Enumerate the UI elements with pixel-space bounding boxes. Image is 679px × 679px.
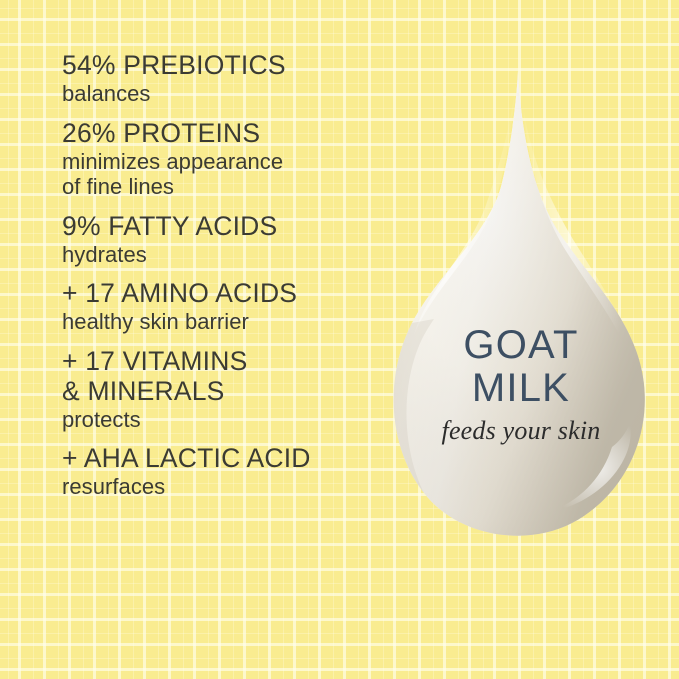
ingredient-name: 26% PROTEINS (62, 118, 372, 148)
goat-milk-infographic: 54% PREBIOTICS balances 26% PROTEINS min… (0, 0, 679, 679)
list-item: + 17 AMINO ACIDS healthy skin barrier (62, 278, 372, 335)
ingredient-benefit: protects (62, 407, 372, 433)
ingredient-benefit: balances (62, 81, 372, 107)
ingredient-benefit: minimizes appearance of fine lines (62, 149, 372, 200)
list-item: 9% FATTY ACIDS hydrates (62, 211, 372, 268)
ingredient-list: 54% PREBIOTICS balances 26% PROTEINS min… (62, 50, 372, 511)
ingredient-benefit: hydrates (62, 242, 372, 268)
ingredient-name: + AHA LACTIC ACID (62, 443, 372, 473)
list-item: 26% PROTEINS minimizes appearance of fin… (62, 118, 372, 200)
milk-droplet-icon (366, 55, 666, 555)
list-item: 54% PREBIOTICS balances (62, 50, 372, 107)
list-item: + 17 VITAMINS & MINERALS protects (62, 346, 372, 433)
ingredient-name: 54% PREBIOTICS (62, 50, 372, 80)
ingredient-name: 9% FATTY ACIDS (62, 211, 372, 241)
ingredient-benefit: healthy skin barrier (62, 309, 372, 335)
ingredient-benefit: resurfaces (62, 474, 372, 500)
ingredient-name: + 17 VITAMINS & MINERALS (62, 346, 372, 406)
list-item: + AHA LACTIC ACID resurfaces (62, 443, 372, 500)
ingredient-name: + 17 AMINO ACIDS (62, 278, 372, 308)
